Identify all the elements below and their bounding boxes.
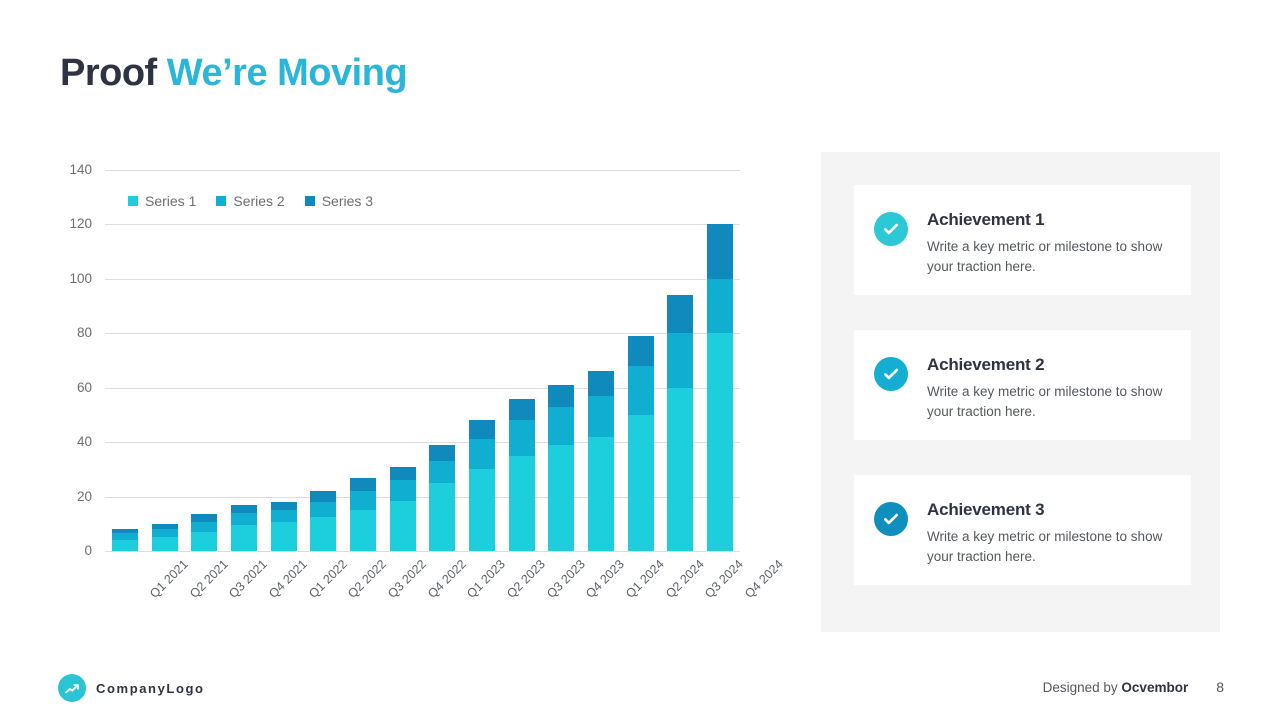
bar-segment-series-3[interactable] bbox=[429, 445, 455, 461]
legend-label: Series 1 bbox=[145, 193, 196, 209]
y-axis-tick-label: 0 bbox=[52, 543, 92, 558]
x-axis-tick-label: Q4 2024 bbox=[742, 557, 786, 601]
x-axis-tick-label: Q4 2023 bbox=[583, 557, 627, 601]
check-circle-icon bbox=[874, 357, 908, 391]
bar-segment-series-1[interactable] bbox=[509, 456, 535, 551]
bar-segment-series-3[interactable] bbox=[390, 467, 416, 481]
bar-group[interactable] bbox=[667, 295, 693, 551]
bar-segment-series-3[interactable] bbox=[667, 295, 693, 333]
bar-segment-series-2[interactable] bbox=[231, 513, 257, 525]
bar-segment-series-1[interactable] bbox=[628, 415, 654, 551]
legend-label: Series 3 bbox=[322, 193, 373, 209]
achievement-title: Achievement 1 bbox=[927, 211, 1171, 230]
x-axis-tick-label: Q2 2024 bbox=[663, 557, 707, 601]
bar-group[interactable] bbox=[390, 467, 416, 551]
x-axis-tick-label: Q4 2021 bbox=[266, 557, 310, 601]
bar-segment-series-3[interactable] bbox=[588, 371, 614, 395]
x-axis-tick-label: Q2 2023 bbox=[504, 557, 548, 601]
gridline bbox=[105, 551, 740, 552]
bar-group[interactable] bbox=[152, 524, 178, 551]
achievements-panel: Achievement 1 Write a key metric or mile… bbox=[821, 152, 1220, 632]
bar-segment-series-3[interactable] bbox=[628, 336, 654, 366]
bar-segment-series-1[interactable] bbox=[429, 483, 455, 551]
bar-segment-series-2[interactable] bbox=[390, 480, 416, 500]
page-title-part-1: Proof bbox=[60, 52, 167, 94]
legend-swatch-icon bbox=[128, 196, 138, 206]
page-title: Proof We’re Moving bbox=[60, 52, 407, 95]
chart-bars bbox=[105, 170, 740, 551]
bar-segment-series-3[interactable] bbox=[310, 491, 336, 502]
y-axis-tick-label: 80 bbox=[52, 325, 92, 340]
y-axis-tick-label: 140 bbox=[52, 162, 92, 177]
bar-segment-series-2[interactable] bbox=[707, 279, 733, 333]
bar-segment-series-3[interactable] bbox=[548, 385, 574, 407]
bar-segment-series-2[interactable] bbox=[509, 420, 535, 455]
achievement-card[interactable]: Achievement 3 Write a key metric or mile… bbox=[854, 475, 1191, 585]
bar-group[interactable] bbox=[429, 445, 455, 551]
bar-segment-series-2[interactable] bbox=[112, 533, 138, 540]
x-axis-tick-label: Q1 2022 bbox=[306, 557, 350, 601]
bar-segment-series-3[interactable] bbox=[350, 478, 376, 492]
bar-group[interactable] bbox=[310, 491, 336, 551]
bar-group[interactable] bbox=[628, 336, 654, 551]
legend-label: Series 2 bbox=[233, 193, 284, 209]
designed-by-name: Ocvembor bbox=[1121, 680, 1188, 695]
bar-group[interactable] bbox=[707, 224, 733, 551]
bar-segment-series-1[interactable] bbox=[191, 532, 217, 551]
bar-segment-series-2[interactable] bbox=[271, 510, 297, 522]
legend-swatch-icon bbox=[216, 196, 226, 206]
y-axis-tick-label: 20 bbox=[52, 489, 92, 504]
legend-swatch-icon bbox=[305, 196, 315, 206]
bar-segment-series-1[interactable] bbox=[548, 445, 574, 551]
bar-segment-series-2[interactable] bbox=[429, 461, 455, 483]
bar-segment-series-1[interactable] bbox=[707, 333, 733, 551]
x-axis-tick-label: Q2 2022 bbox=[345, 557, 389, 601]
chart-legend: Series 1Series 2Series 3 bbox=[128, 193, 373, 209]
achievement-card-body: Achievement 1 Write a key metric or mile… bbox=[927, 210, 1171, 278]
achievement-title: Achievement 2 bbox=[927, 356, 1171, 375]
legend-item[interactable]: Series 2 bbox=[216, 193, 284, 209]
bar-group[interactable] bbox=[588, 371, 614, 551]
x-axis-tick-label: Q1 2024 bbox=[623, 557, 667, 601]
chart-arrow-up-icon bbox=[58, 674, 86, 702]
bar-segment-series-1[interactable] bbox=[390, 501, 416, 551]
bar-segment-series-1[interactable] bbox=[588, 437, 614, 551]
achievement-description: Write a key metric or milestone to show … bbox=[927, 237, 1171, 278]
bar-group[interactable] bbox=[271, 502, 297, 551]
stacked-bar-chart: 140120100806040200 Q1 2021Q2 2021Q3 2021… bbox=[60, 160, 750, 630]
slide-canvas: Proof We’re Moving 140120100806040200 Q1… bbox=[0, 0, 1280, 720]
achievement-card[interactable]: Achievement 2 Write a key metric or mile… bbox=[854, 330, 1191, 440]
chart-x-axis: Q1 2021Q2 2021Q3 2021Q4 2021Q1 2022Q2 20… bbox=[105, 557, 740, 627]
bar-group[interactable] bbox=[112, 529, 138, 551]
x-axis-tick-label: Q3 2021 bbox=[226, 557, 270, 601]
bar-group[interactable] bbox=[191, 514, 217, 551]
achievement-card-body: Achievement 3 Write a key metric or mile… bbox=[927, 500, 1171, 568]
bar-segment-series-2[interactable] bbox=[548, 407, 574, 445]
designed-by-prefix: Designed by bbox=[1043, 680, 1122, 695]
bar-group[interactable] bbox=[548, 385, 574, 551]
bar-segment-series-3[interactable] bbox=[707, 224, 733, 278]
check-circle-icon bbox=[874, 212, 908, 246]
x-axis-tick-label: Q4 2022 bbox=[425, 557, 469, 601]
bar-group[interactable] bbox=[350, 478, 376, 551]
x-axis-tick-label: Q1 2023 bbox=[464, 557, 508, 601]
y-axis-tick-label: 40 bbox=[52, 434, 92, 449]
bar-group[interactable] bbox=[231, 505, 257, 551]
slide-footer: Designed by Ocvembor 8 bbox=[1043, 679, 1224, 695]
achievement-card[interactable]: Achievement 1 Write a key metric or mile… bbox=[854, 185, 1191, 295]
x-axis-tick-label: Q3 2022 bbox=[385, 557, 429, 601]
bar-segment-series-2[interactable] bbox=[667, 333, 693, 387]
bar-segment-series-3[interactable] bbox=[469, 420, 495, 439]
bar-segment-series-1[interactable] bbox=[152, 537, 178, 551]
bar-group[interactable] bbox=[469, 420, 495, 551]
page-title-part-2: We’re Moving bbox=[167, 52, 407, 94]
company-logo-text: CompanyLogo bbox=[96, 681, 205, 696]
x-axis-tick-label: Q3 2024 bbox=[703, 557, 747, 601]
bar-segment-series-2[interactable] bbox=[628, 366, 654, 415]
x-axis-tick-label: Q1 2021 bbox=[147, 557, 191, 601]
legend-item[interactable]: Series 3 bbox=[305, 193, 373, 209]
x-axis-tick-label: Q3 2023 bbox=[544, 557, 588, 601]
bar-segment-series-1[interactable] bbox=[271, 522, 297, 551]
bar-segment-series-2[interactable] bbox=[588, 396, 614, 437]
legend-item[interactable]: Series 1 bbox=[128, 193, 196, 209]
y-axis-tick-label: 100 bbox=[52, 271, 92, 286]
bar-segment-series-1[interactable] bbox=[310, 517, 336, 551]
achievement-card-body: Achievement 2 Write a key metric or mile… bbox=[927, 355, 1171, 423]
bar-segment-series-1[interactable] bbox=[112, 540, 138, 551]
check-circle-icon bbox=[874, 502, 908, 536]
bar-group[interactable] bbox=[509, 399, 535, 551]
achievement-description: Write a key metric or milestone to show … bbox=[927, 527, 1171, 568]
bar-segment-series-1[interactable] bbox=[667, 388, 693, 551]
y-axis-tick-label: 60 bbox=[52, 380, 92, 395]
bar-segment-series-3[interactable] bbox=[231, 505, 257, 513]
bar-segment-series-2[interactable] bbox=[469, 439, 495, 469]
achievement-description: Write a key metric or milestone to show … bbox=[927, 382, 1171, 423]
bar-segment-series-3[interactable] bbox=[191, 514, 217, 522]
bar-segment-series-2[interactable] bbox=[350, 491, 376, 510]
bar-segment-series-2[interactable] bbox=[310, 502, 336, 517]
bar-segment-series-2[interactable] bbox=[152, 529, 178, 537]
designed-by-credit: Designed by Ocvembor bbox=[1043, 680, 1189, 695]
y-axis-tick-label: 120 bbox=[52, 216, 92, 231]
company-logo[interactable]: CompanyLogo bbox=[58, 674, 205, 702]
achievement-title: Achievement 3 bbox=[927, 501, 1171, 520]
page-number: 8 bbox=[1216, 679, 1224, 695]
bar-segment-series-1[interactable] bbox=[469, 469, 495, 551]
bar-segment-series-1[interactable] bbox=[231, 525, 257, 551]
x-axis-tick-label: Q2 2021 bbox=[187, 557, 231, 601]
bar-segment-series-2[interactable] bbox=[191, 522, 217, 532]
bar-segment-series-1[interactable] bbox=[350, 510, 376, 551]
bar-segment-series-3[interactable] bbox=[509, 399, 535, 421]
chart-plot-area: 140120100806040200 bbox=[105, 170, 740, 551]
bar-segment-series-3[interactable] bbox=[271, 502, 297, 510]
